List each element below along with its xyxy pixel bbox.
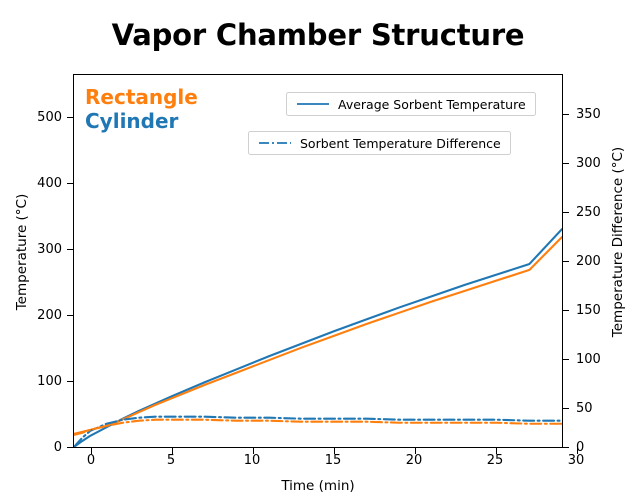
y-right-tickmark [563, 310, 569, 311]
series-line [74, 229, 562, 447]
y-right-tickmark [563, 114, 569, 115]
y-left-tick-100: 100 [0, 374, 62, 389]
y-right-tick-50: 50 [576, 401, 616, 416]
y-left-tick-200: 200 [0, 308, 62, 323]
y-axis-right-title: Temperature Difference (°C) [610, 102, 626, 382]
chart-page: Vapor Chamber Structure 500 400 300 200 … [0, 0, 636, 502]
legend-line-dashdot-icon [258, 136, 292, 150]
y-right-tickmark [563, 212, 569, 213]
series-line [74, 420, 562, 435]
y-left-tick-300: 300 [0, 242, 62, 257]
y-right-tickmark [563, 447, 569, 448]
x-tick-10: 10 [232, 453, 272, 468]
y-right-tickmark [563, 359, 569, 360]
chart-title: Vapor Chamber Structure [0, 18, 636, 52]
y-right-tickmark [563, 408, 569, 409]
x-tick-5: 5 [151, 453, 191, 468]
x-tickmark [496, 448, 497, 454]
legend-line-solid-icon [296, 97, 330, 111]
y-left-tick-500: 500 [0, 110, 62, 125]
y-right-tickmark [563, 261, 569, 262]
y-left-tick-0: 0 [0, 440, 62, 455]
y-right-tickmark [563, 163, 569, 164]
x-tickmark [172, 448, 173, 454]
structure-label-cylinder: Cylinder [85, 109, 198, 133]
x-tickmark [253, 448, 254, 454]
legend-label-difference: Sorbent Temperature Difference [300, 136, 501, 151]
legend-average-sorbent-temperature: Average Sorbent Temperature [286, 92, 536, 116]
structure-legend: Rectangle Cylinder [85, 85, 198, 134]
structure-label-rectangle: Rectangle [85, 85, 198, 109]
series-line [74, 237, 562, 434]
x-tickmark [334, 448, 335, 454]
y-left-tick-400: 400 [0, 176, 62, 191]
x-tickmark [415, 448, 416, 454]
x-tick-25: 25 [475, 453, 515, 468]
x-tickmark [577, 448, 578, 454]
x-tick-30: 30 [556, 453, 596, 468]
y-axis-left-title: Temperature (°C) [14, 152, 30, 352]
x-tick-20: 20 [394, 453, 434, 468]
x-axis-title: Time (min) [73, 478, 563, 494]
x-tick-15: 15 [313, 453, 353, 468]
x-tick-0: 0 [71, 453, 111, 468]
x-tickmark [91, 448, 92, 454]
legend-label-average: Average Sorbent Temperature [338, 97, 526, 112]
legend-sorbent-temperature-difference: Sorbent Temperature Difference [248, 131, 511, 155]
